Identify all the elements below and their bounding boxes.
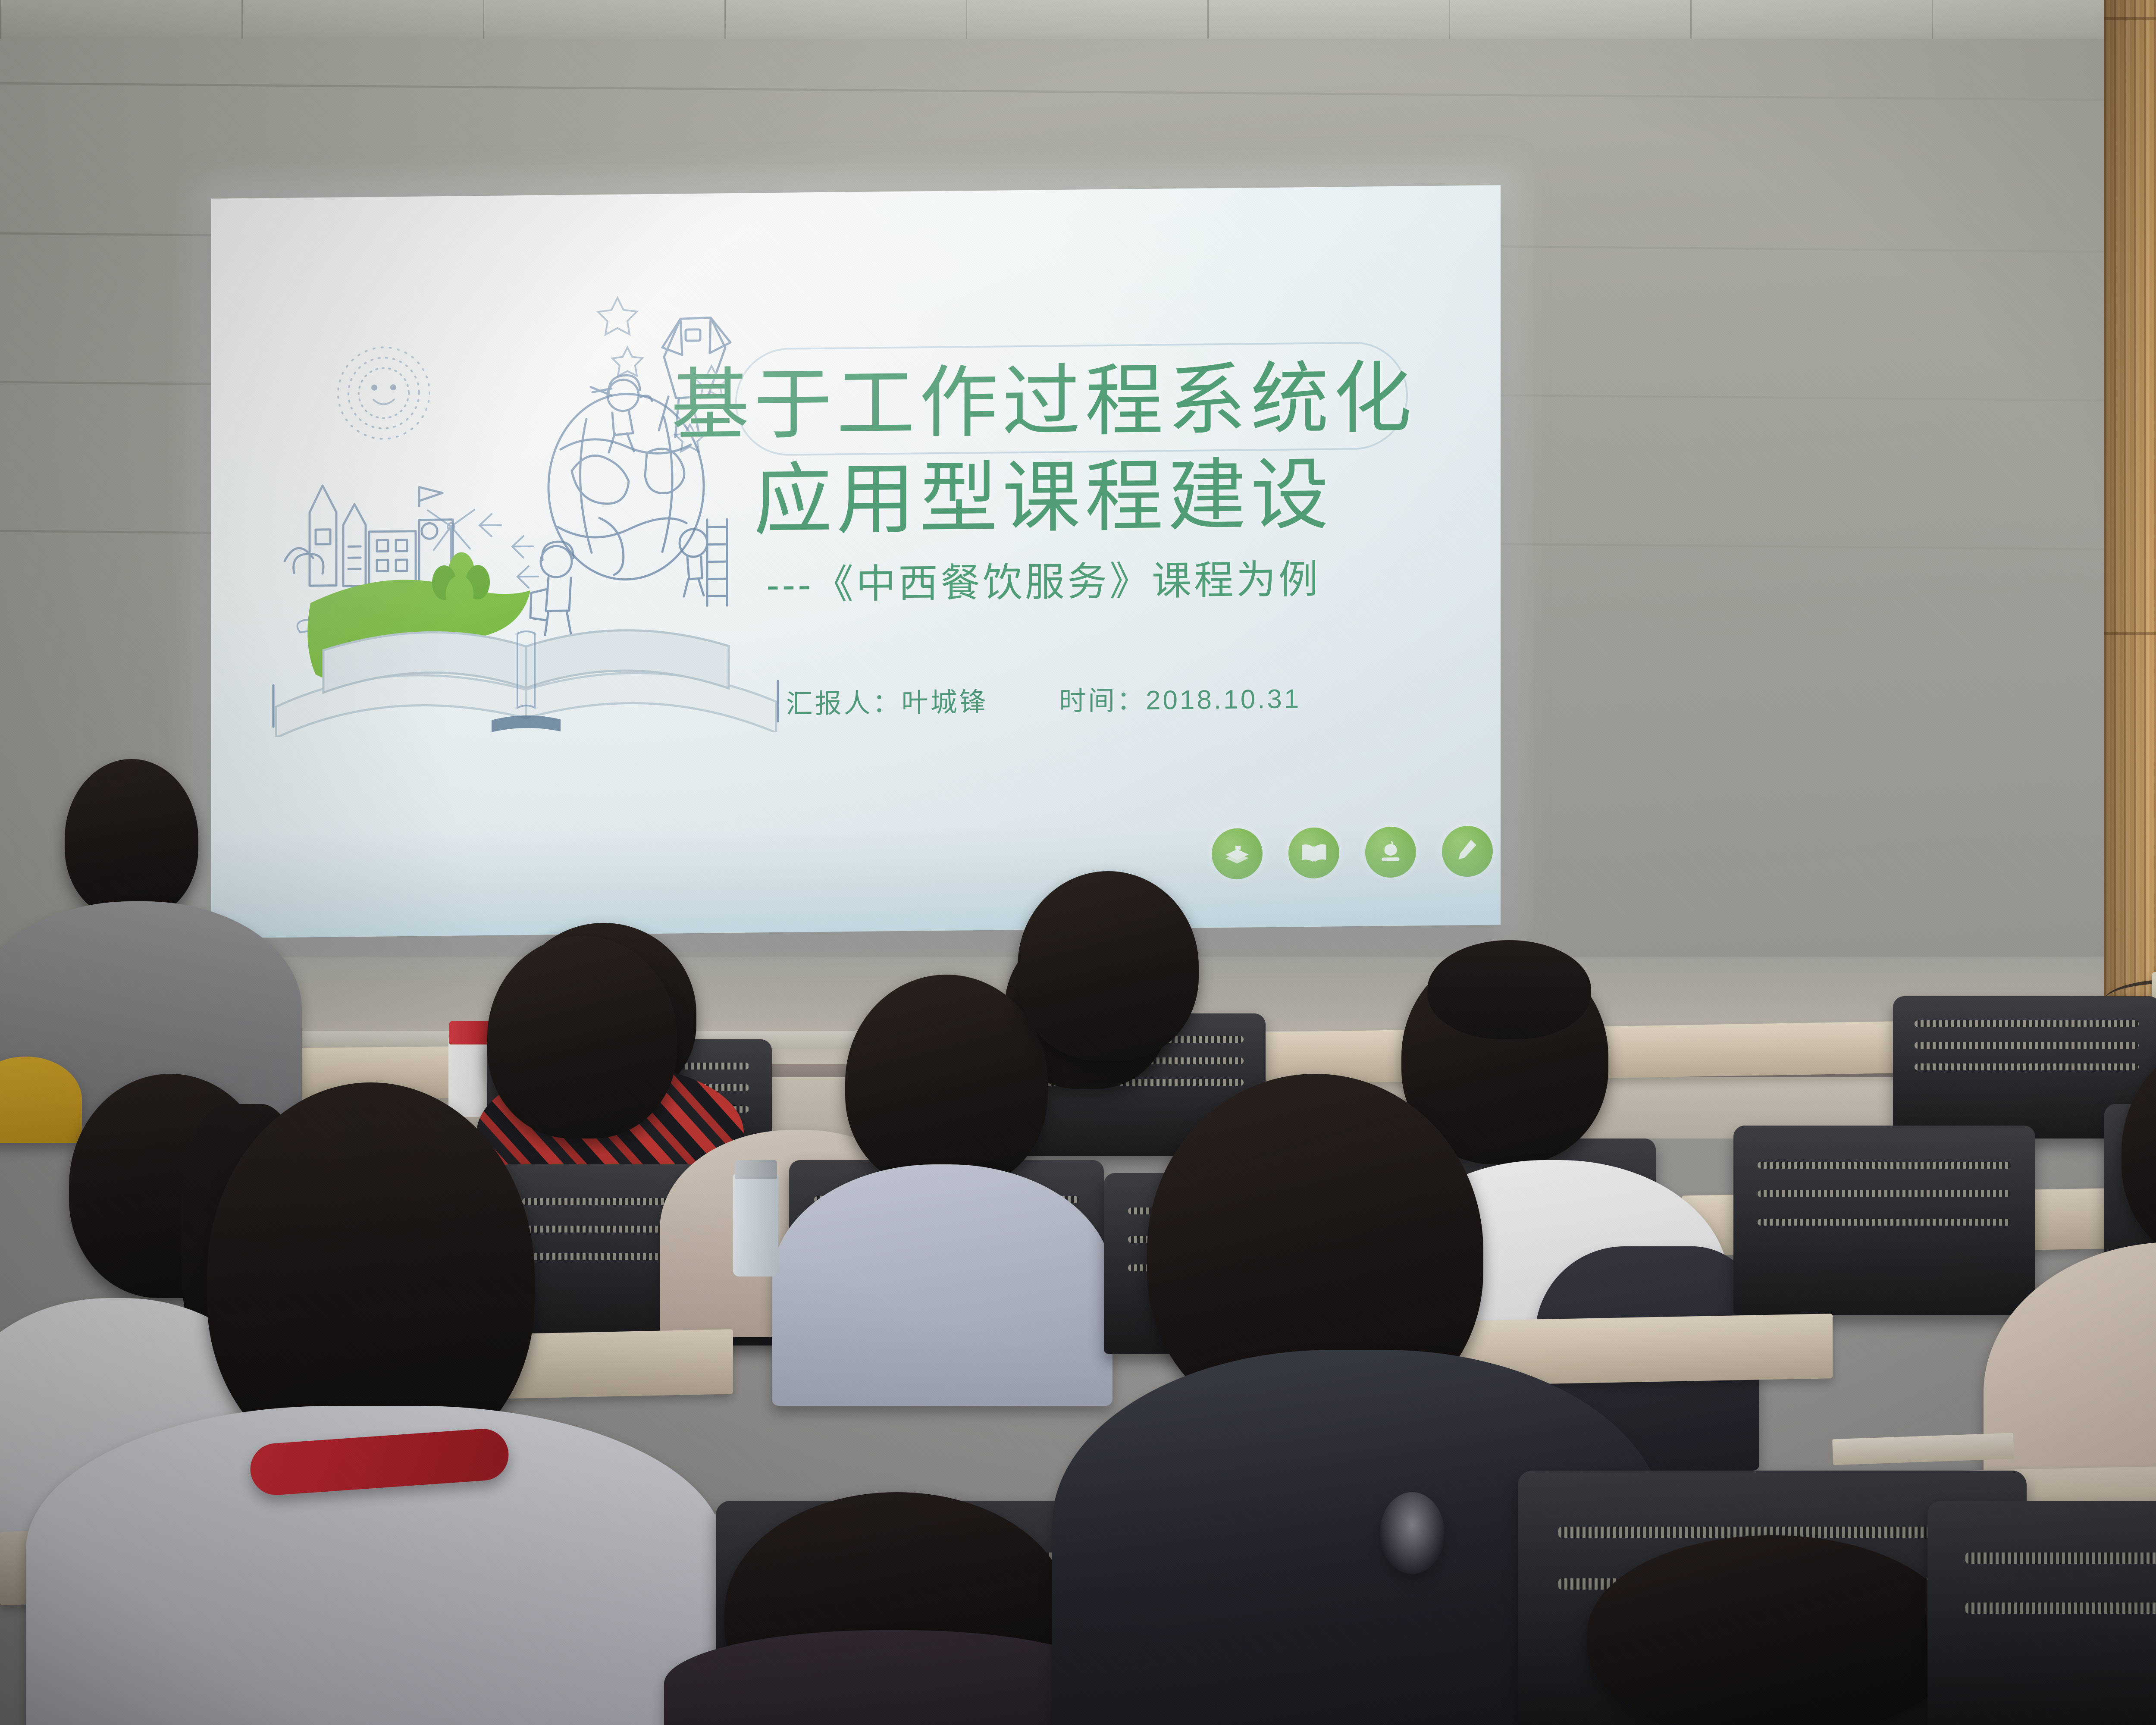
city-doodle xyxy=(285,484,453,587)
projection-screen: 基于工作过程系统化 应用型课程建设 ---《中西餐饮服务》课程为例 汇报人：叶城… xyxy=(211,185,1501,938)
slide-meta-line: 汇报人：叶城锋 时间：2018.10.31 xyxy=(634,675,1453,722)
slide-title-line1: 基于工作过程系统化 xyxy=(671,354,1416,449)
audience-head-p3b xyxy=(487,936,677,1138)
water-bottle-cap-clear xyxy=(735,1160,777,1179)
jacket-logo-emblem xyxy=(1380,1492,1445,1574)
sun-smiley-doodle xyxy=(338,347,429,439)
audience-head-p9 xyxy=(1018,871,1199,1061)
slide-date-label: 时间：2018.10.31 xyxy=(1059,684,1301,716)
slide-title: 基于工作过程系统化 应用型课程建设 xyxy=(634,349,1453,549)
water-bottle-clear xyxy=(733,1173,778,1276)
audience-head-p13-low xyxy=(1587,1535,1958,1725)
audience-head-p1 xyxy=(65,759,198,919)
slide-presenter-label: 汇报人：叶城锋 xyxy=(786,687,988,719)
audience-body-p8 xyxy=(772,1164,1112,1406)
child-backpack-doodle xyxy=(530,542,573,635)
slide-title-line2: 应用型课程建设 xyxy=(634,445,1453,550)
chair-row1-d xyxy=(1927,1501,2156,1725)
audience-head-p8 xyxy=(845,975,1048,1190)
slide-subtitle: ---《中西餐饮服务》课程为例 xyxy=(634,546,1453,612)
chair-row3-e xyxy=(1733,1126,2035,1315)
wood-wall-shadow xyxy=(2104,0,2152,1121)
photo-scene: 基于工作过程系统化 应用型课程建设 ---《中西餐饮服务》课程为例 汇报人：叶城… xyxy=(0,0,2156,1725)
audience-ponytail-p10 xyxy=(1427,940,1591,1039)
